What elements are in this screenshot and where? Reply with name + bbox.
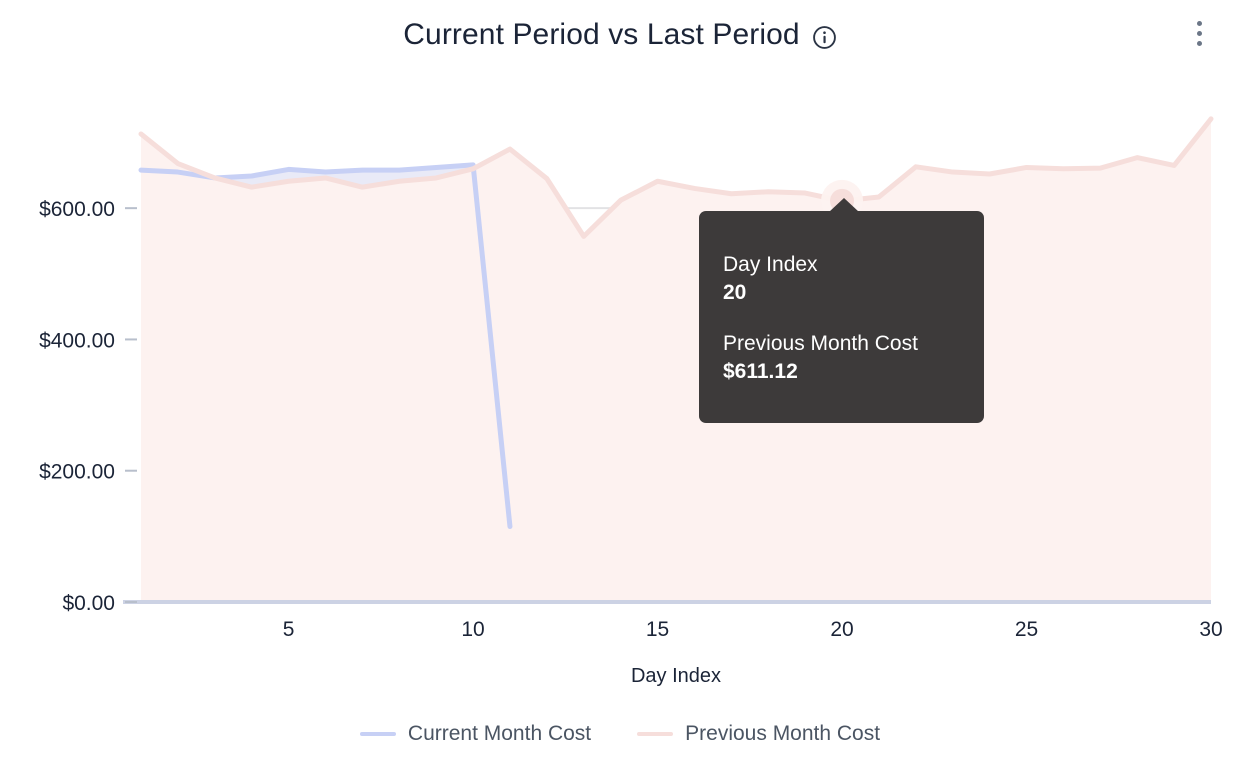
kebab-dot xyxy=(1197,21,1202,26)
svg-text:5: 5 xyxy=(283,618,295,641)
series-areas xyxy=(141,119,1211,602)
svg-text:$400.00: $400.00 xyxy=(39,329,115,352)
title-wrap: Current Period vs Last Period xyxy=(403,18,836,52)
legend-label: Previous Month Cost xyxy=(685,722,880,746)
page-title: Current Period vs Last Period xyxy=(403,18,799,52)
svg-text:30: 30 xyxy=(1199,618,1222,641)
kebab-dot xyxy=(1197,41,1202,46)
legend-swatch xyxy=(637,732,673,736)
axis-tick-labels: $0.00$200.00$400.00$600.0051015202530Day… xyxy=(39,198,1223,687)
svg-text:$0.00: $0.00 xyxy=(62,592,115,615)
svg-text:$200.00: $200.00 xyxy=(39,461,115,484)
tooltip-series-label: Previous Month Cost xyxy=(723,330,984,358)
tooltip-x-label: Day Index xyxy=(723,251,984,279)
plot-region: $0.00$200.00$400.00$600.0051015202530Day… xyxy=(0,0,1240,772)
chart-legend: Current Month Cost Previous Month Cost xyxy=(0,722,1240,746)
gridlines xyxy=(141,208,1211,471)
chart-header: Current Period vs Last Period xyxy=(0,0,1240,70)
svg-text:$600.00: $600.00 xyxy=(39,198,115,221)
svg-text:Day Index: Day Index xyxy=(631,665,721,687)
tooltip-series-value: $611.12 xyxy=(723,358,984,386)
legend-label: Current Month Cost xyxy=(408,722,591,746)
legend-item-previous-month-cost[interactable]: Previous Month Cost xyxy=(637,722,880,746)
kebab-dot xyxy=(1197,31,1202,36)
svg-text:20: 20 xyxy=(830,618,853,641)
chart-tooltip: Day Index 20 Previous Month Cost $611.12 xyxy=(699,211,984,423)
chart-card: Current Period vs Last Period $0.00$200.… xyxy=(0,0,1240,772)
svg-text:15: 15 xyxy=(646,618,669,641)
tooltip-row-series: Previous Month Cost $611.12 xyxy=(723,330,984,387)
tooltip-row-x: Day Index 20 xyxy=(723,251,984,308)
kebab-menu-icon[interactable] xyxy=(1186,16,1212,50)
tooltip-x-value: 20 xyxy=(723,279,984,307)
legend-swatch xyxy=(360,732,396,736)
series-lines xyxy=(141,119,1211,527)
svg-text:10: 10 xyxy=(461,618,484,641)
svg-text:25: 25 xyxy=(1015,618,1038,641)
chart-canvas[interactable]: $0.00$200.00$400.00$600.0051015202530Day… xyxy=(0,0,1240,772)
axis-lines xyxy=(123,208,1211,602)
info-circle-icon[interactable] xyxy=(812,21,837,50)
legend-item-current-month-cost[interactable]: Current Month Cost xyxy=(360,722,591,746)
